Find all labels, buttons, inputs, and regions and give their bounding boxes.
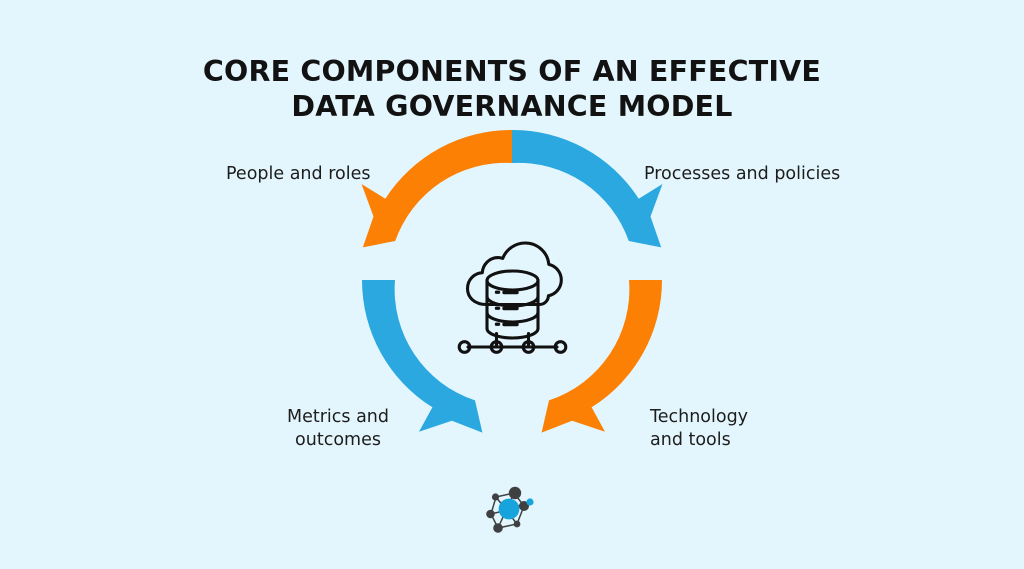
label-people-and-roles: People and roles: [226, 163, 370, 186]
segment-people-and-roles[interactable]: [362, 130, 513, 247]
label-metrics-and-outcomes: Metrics and outcomes: [276, 406, 400, 452]
segment-people-and-roles-shape: [362, 130, 513, 247]
logo-node-5: [514, 521, 521, 528]
title-line-2: DATA GOVERNANCE MODEL: [0, 90, 1024, 125]
cloud-shape: [468, 243, 562, 305]
cloud-database-network-icon: [455, 236, 570, 358]
label-technology-and-tools: Technology and tools: [650, 406, 748, 452]
title-line-1: CORE COMPONENTS OF AN EFFECTIVE: [0, 55, 1024, 90]
segment-processes-and-policies-shape: [512, 130, 663, 247]
network-nodes-logo: [484, 484, 541, 536]
segment-processes-and-policies[interactable]: [512, 130, 663, 247]
page-title: CORE COMPONENTS OF AN EFFECTIVE DATA GOV…: [0, 55, 1024, 125]
logo-node-3: [486, 510, 495, 519]
label-processes-and-policies: Processes and policies: [644, 163, 840, 186]
logo-node-2: [492, 493, 499, 500]
logo-node-4: [493, 523, 503, 533]
logo-accent-satellite: [526, 498, 533, 505]
database-top-disc: [487, 271, 538, 290]
logo-accent-core: [499, 499, 520, 520]
infographic-canvas: CORE COMPONENTS OF AN EFFECTIVE DATA GOV…: [0, 0, 1024, 569]
logo-node-1: [509, 487, 521, 499]
